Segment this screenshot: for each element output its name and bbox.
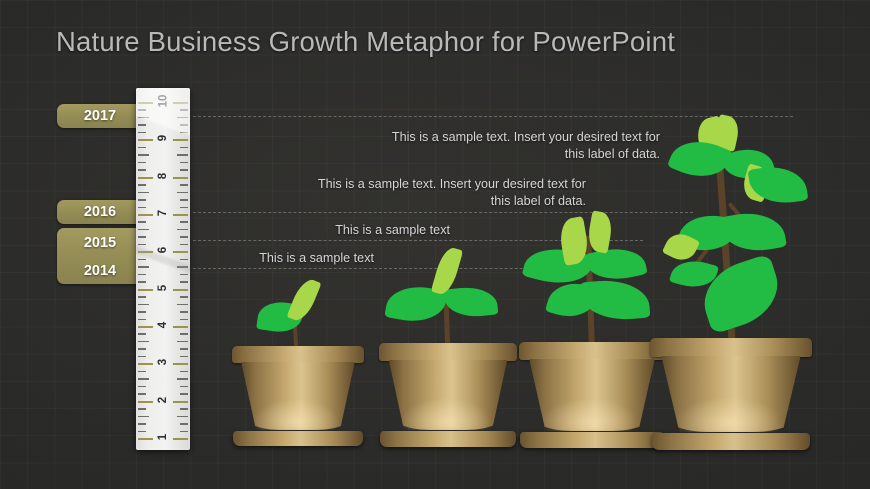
ruler-number-10: 10 <box>136 95 190 107</box>
plant-1-leaf-2 <box>286 276 321 324</box>
ruler-tick-minor <box>138 274 146 276</box>
ruler-number-3: 3 <box>136 356 190 368</box>
ruler-tick-minor <box>138 184 146 186</box>
ruler-tick-minor <box>138 147 146 149</box>
ruler-number-4: 4 <box>136 319 190 331</box>
ruler-number-1: 1 <box>136 431 190 443</box>
ruler-tick-minor <box>138 341 149 343</box>
ruler-tick-minor <box>138 221 146 223</box>
ruler-tick-minor <box>138 333 146 335</box>
ruler-tick-minor <box>177 192 188 194</box>
ruler-tick-minor <box>180 296 188 298</box>
ruler-tick-minor <box>138 416 149 418</box>
year-label-2014: 2014 <box>57 264 143 279</box>
plant-1-pot <box>232 346 364 446</box>
ruler-tick-minor <box>138 423 146 425</box>
ruler-tick-minor <box>138 371 146 373</box>
sample-label-2017[interactable]: This is a sample text. Insert your desir… <box>380 129 660 163</box>
ruler-tick-minor <box>180 333 188 335</box>
ruler-tick-minor <box>138 348 146 350</box>
year-tab-2015-2014[interactable]: 2015 2014 <box>57 228 143 284</box>
plant-stage-4 <box>650 112 812 450</box>
ruler-tick-minor <box>177 378 188 380</box>
ruler-tick-minor <box>180 221 188 223</box>
plant-4-pot <box>650 338 812 450</box>
ruler-tick-minor <box>138 296 146 298</box>
ruler-tick-minor <box>138 154 149 156</box>
ruler-number-9: 9 <box>136 132 190 144</box>
pot-body <box>529 359 655 431</box>
ruler-tick-minor <box>180 162 188 164</box>
page-title: Nature Business Growth Metaphor for Powe… <box>56 26 675 58</box>
pot-saucer <box>652 433 811 450</box>
ruler-tick-minor <box>180 408 188 410</box>
year-label-2017: 2017 <box>57 109 143 124</box>
ruler-tick-minor <box>180 348 188 350</box>
ruler-tick-minor <box>180 147 188 149</box>
pot-body <box>661 356 800 432</box>
ruler-tick-minor <box>180 199 188 201</box>
ruler-tick-minor <box>177 229 188 231</box>
ruler-number-7: 7 <box>136 207 190 219</box>
ruler-tick-minor <box>138 117 149 119</box>
plant-2-leaf-2 <box>444 284 499 319</box>
ruler-tick-minor <box>138 109 146 111</box>
ruler-tick-minor <box>180 236 188 238</box>
pot-saucer <box>380 431 515 447</box>
ruler-tick-minor <box>138 124 146 126</box>
pot-rim <box>650 338 812 357</box>
year-tab-2017[interactable]: 2017 <box>57 104 143 128</box>
pot-saucer <box>233 431 362 446</box>
pot-saucer <box>520 432 663 448</box>
year-label-2016: 2016 <box>57 205 143 220</box>
ruler-tick-minor <box>138 192 149 194</box>
ruler-tick-minor <box>177 154 188 156</box>
ruler-tick-minor <box>138 311 146 313</box>
ruler-tick-minor <box>177 117 188 119</box>
ruler-tick-minor <box>138 266 149 268</box>
ruler-tick-minor <box>180 386 188 388</box>
ruler-tick-minor <box>138 229 149 231</box>
ruler-tick-minor <box>138 386 146 388</box>
plant-stage-1 <box>232 276 364 446</box>
year-tab-2016[interactable]: 2016 <box>57 200 143 224</box>
sample-label-2014[interactable]: This is a sample text <box>180 250 374 267</box>
ruler-tick-minor <box>177 416 188 418</box>
plant-4-leaf-8 <box>719 207 787 257</box>
ruler-tick-minor <box>180 124 188 126</box>
ruler-tick-minor <box>177 304 188 306</box>
ruler-number-2: 2 <box>136 394 190 406</box>
ruler-tick-minor <box>138 162 146 164</box>
pot-rim <box>519 342 665 360</box>
ruler-tick-minor <box>138 378 149 380</box>
sample-label-2016[interactable]: This is a sample text. Insert your desir… <box>300 176 586 210</box>
ruler-tick-minor <box>177 341 188 343</box>
ruler-tick-minor <box>180 109 188 111</box>
plant-stage-2 <box>379 243 517 447</box>
ruler-tick-minor <box>138 408 146 410</box>
slide-canvas: Nature Business Growth Metaphor for Powe… <box>0 0 870 489</box>
plant-2-pot <box>379 343 517 447</box>
ruler-tick-minor <box>180 274 188 276</box>
pot-rim <box>379 343 517 361</box>
year-label-2015: 2015 <box>57 236 143 251</box>
ruler-tick-minor <box>180 311 188 313</box>
ruler-tick-minor <box>138 236 146 238</box>
ruler-tick-minor <box>138 199 146 201</box>
ruler-tick-minor <box>180 184 188 186</box>
ruler-tick-minor <box>180 423 188 425</box>
sample-label-2015[interactable]: This is a sample text <box>240 222 450 239</box>
ruler-tick-minor <box>138 304 149 306</box>
ruler-number-8: 8 <box>136 170 190 182</box>
ruler-tick-minor <box>180 371 188 373</box>
vertical-ruler: 10987654321 <box>136 88 190 450</box>
plant-3-pot <box>519 342 665 448</box>
ruler-number-5: 5 <box>136 282 190 294</box>
pot-rim <box>232 346 364 363</box>
pot-body <box>389 360 508 431</box>
plant-stage-3 <box>519 206 665 448</box>
ruler-tick-minor <box>138 259 146 261</box>
pot-body <box>241 362 355 430</box>
